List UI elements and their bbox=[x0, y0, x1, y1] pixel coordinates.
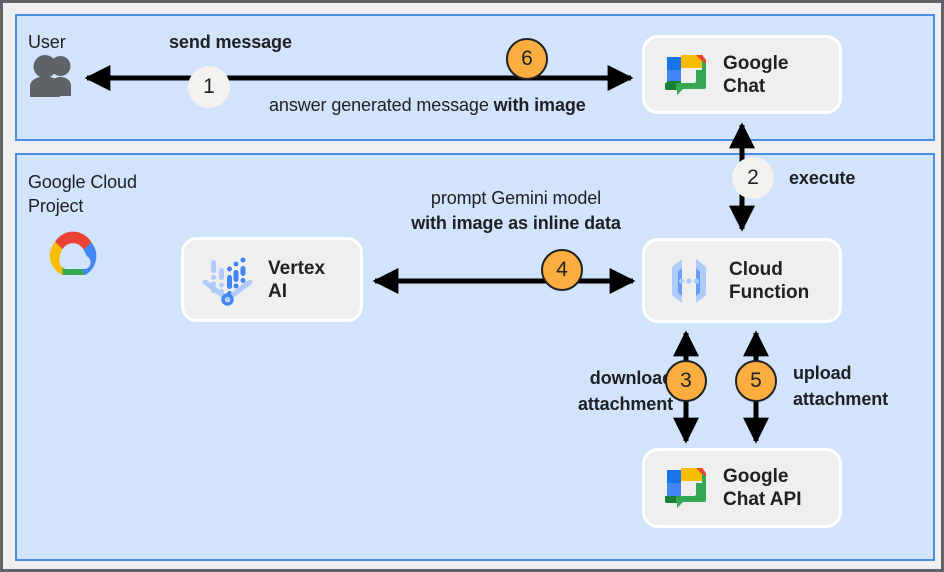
step-badge-5[interactable]: 5 bbox=[735, 360, 777, 402]
google-chat-api-icon-wrap bbox=[663, 465, 709, 511]
edge-label-upload-attachment: upload attachment bbox=[793, 360, 943, 412]
node-label-vertex-ai: Vertex AI bbox=[268, 257, 325, 303]
google-chat-icon bbox=[663, 52, 709, 98]
answer-text-regular: answer generated message bbox=[269, 95, 494, 115]
step-badge-4[interactable]: 4 bbox=[541, 249, 583, 291]
arrow-user-chat bbox=[73, 67, 645, 89]
edge-label-answer-generated-message: answer generated message with image bbox=[269, 95, 586, 116]
user-zone-label: User bbox=[28, 32, 66, 53]
answer-text-bold: with image bbox=[494, 95, 586, 115]
diagram-canvas: User Google Cloud Project send message a… bbox=[0, 0, 944, 572]
cloud-function-icon-wrap bbox=[663, 255, 715, 307]
edge-label-send-message: send message bbox=[169, 32, 292, 53]
node-vertex-ai[interactable]: Vertex AI bbox=[181, 237, 363, 322]
node-cloud-function[interactable]: Cloud Function bbox=[642, 238, 842, 323]
arrow-vertex-function bbox=[363, 270, 645, 292]
step-badge-3[interactable]: 3 bbox=[665, 360, 707, 402]
edge-label-download-attachment: download attachment bbox=[493, 365, 673, 417]
edge-label-prompt-gemini: prompt Gemini modelwith image as inline … bbox=[366, 186, 666, 236]
google-chat-icon-wrap bbox=[663, 52, 709, 98]
edge-label-execute: execute bbox=[789, 168, 855, 189]
google-cloud-icon-wrap bbox=[41, 225, 105, 286]
node-label-google-chat: Google Chat bbox=[723, 52, 788, 98]
node-google-chat[interactable]: Google Chat bbox=[642, 35, 842, 114]
google-cloud-project-label: Google Cloud Project bbox=[28, 170, 137, 218]
vertex-ai-icon bbox=[202, 252, 254, 308]
step-badge-1[interactable]: 1 bbox=[188, 66, 230, 108]
vertex-ai-icon-wrap bbox=[202, 252, 254, 308]
step-badge-6[interactable]: 6 bbox=[506, 38, 548, 80]
prompt-line-2: with image as inline data bbox=[411, 213, 621, 233]
prompt-line-1: prompt Gemini model bbox=[431, 188, 601, 208]
node-label-google-chat-api: Google Chat API bbox=[723, 465, 801, 511]
step-badge-2[interactable]: 2 bbox=[732, 157, 774, 199]
google-cloud-icon bbox=[41, 225, 105, 281]
node-label-cloud-function: Cloud Function bbox=[729, 258, 809, 304]
node-google-chat-api[interactable]: Google Chat API bbox=[642, 448, 842, 528]
cloud-function-icon bbox=[663, 255, 715, 307]
google-chat-icon bbox=[663, 465, 709, 511]
